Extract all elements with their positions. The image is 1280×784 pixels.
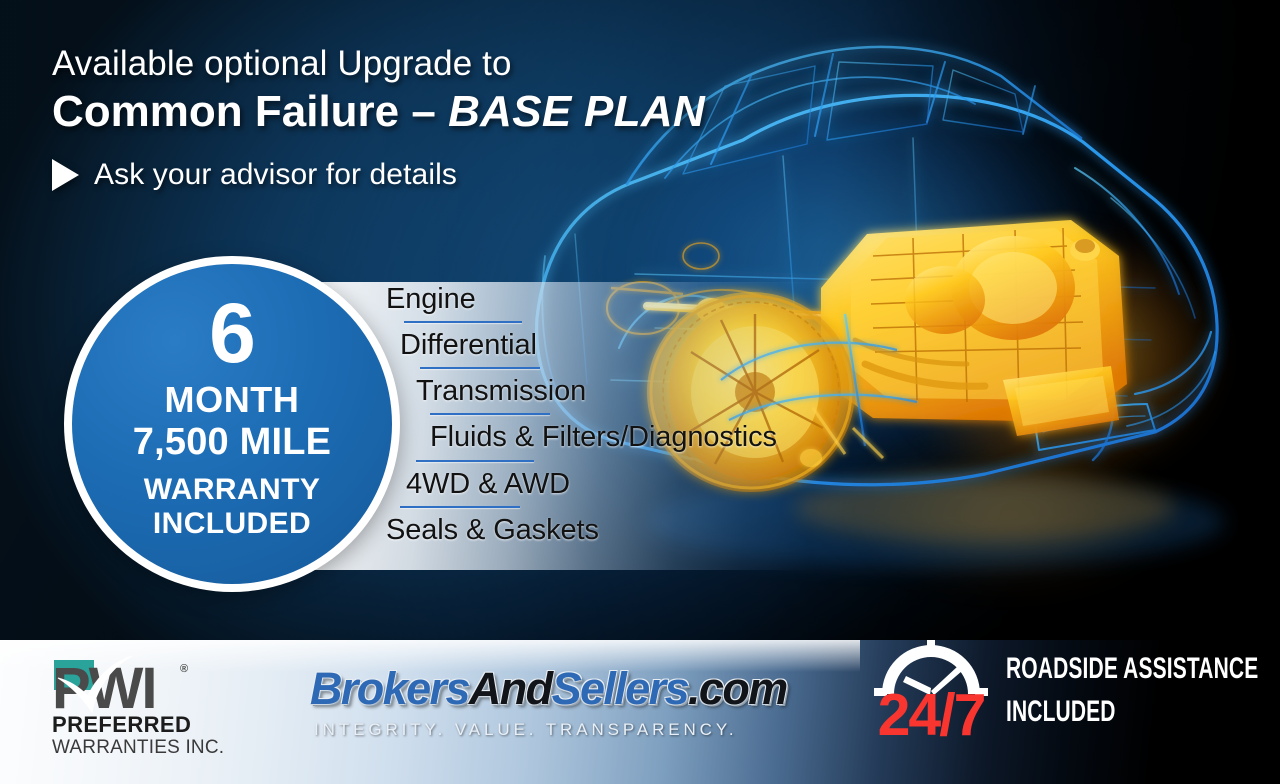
coverage-label: Differential xyxy=(400,330,906,360)
coverage-divider xyxy=(416,460,534,462)
headline-block: Available optional Upgrade to Common Fai… xyxy=(52,44,812,192)
list-item: Differential xyxy=(386,330,906,369)
wordmark-sellers: Sellers xyxy=(552,663,688,714)
cta-label: Ask your advisor for details xyxy=(94,158,457,192)
coverage-divider xyxy=(404,321,522,323)
headline-prefix: Common Failure – xyxy=(52,87,448,136)
coverage-label: 4WD & AWD xyxy=(406,469,906,499)
hours-label: 24/7 xyxy=(872,686,990,745)
roadside-text: ROADSIDE ASSISTANCE INCLUDED xyxy=(1006,636,1280,733)
advertisement-banner: Available optional Upgrade to Common Fai… xyxy=(0,0,1280,784)
badge-included-word: INCLUDED xyxy=(153,507,311,541)
warranty-badge: 6 MONTH 7,500 MILE WARRANTY INCLUDED xyxy=(64,256,400,592)
coverage-divider xyxy=(400,506,520,508)
brokers-wordmark: BrokersAndSellers.com xyxy=(310,666,810,711)
list-item: Seals & Gaskets xyxy=(386,515,906,545)
coverage-label: Fluids & Filters/Diagnostics xyxy=(430,422,906,452)
badge-mileage: 7,500 MILE xyxy=(133,421,331,464)
svg-text:WARRANTIES INC.: WARRANTIES INC. xyxy=(52,737,224,756)
coverage-divider xyxy=(420,367,540,369)
roadside-line-1: ROADSIDE ASSISTANCE xyxy=(1006,648,1258,691)
list-item: Transmission xyxy=(386,376,906,415)
headline-line-2: Common Failure – BASE PLAN xyxy=(52,87,812,136)
badge-warranty-word: WARRANTY xyxy=(144,473,321,507)
cta-row: Ask your advisor for details xyxy=(52,158,812,192)
headline-line-1: Available optional Upgrade to xyxy=(52,44,812,83)
wordmark-dotcom: .com xyxy=(688,663,787,714)
coverage-list: Engine Differential Transmission Fluids … xyxy=(386,284,906,545)
clock-icon-wrap: 24/7 xyxy=(872,636,990,748)
roadside-line-2: INCLUDED xyxy=(1006,691,1258,734)
list-item: Engine xyxy=(386,284,906,323)
coverage-divider xyxy=(430,413,550,415)
list-item: Fluids & Filters/Diagnostics xyxy=(386,422,906,461)
badge-term-unit: MONTH xyxy=(165,379,300,420)
wordmark-brokers: Brokers xyxy=(310,663,469,714)
svg-text:PREFERRED: PREFERRED xyxy=(52,712,191,737)
brokers-tagline: INTEGRITY. VALUE. TRANSPARENCY. xyxy=(310,720,810,740)
headline-plan-name: BASE PLAN xyxy=(448,87,705,136)
roadside-assistance-block: 24/7 ROADSIDE ASSISTANCE INCLUDED xyxy=(872,636,1267,756)
badge-term-number: 6 xyxy=(209,297,255,369)
play-triangle-icon xyxy=(52,159,79,191)
pwi-logo: PWI ® PREFERRED WARRANTIES INC. xyxy=(52,656,257,756)
wordmark-and: And xyxy=(469,663,552,714)
list-item: 4WD & AWD xyxy=(386,469,906,508)
coverage-label: Transmission xyxy=(416,376,906,406)
coverage-label: Engine xyxy=(386,284,906,314)
brokers-and-sellers-logo[interactable]: BrokersAndSellers.com INTEGRITY. VALUE. … xyxy=(310,666,810,748)
svg-text:®: ® xyxy=(180,663,188,675)
coverage-label: Seals & Gaskets xyxy=(386,515,906,545)
badge-inner: 6 MONTH 7,500 MILE WARRANTY INCLUDED xyxy=(72,264,392,584)
